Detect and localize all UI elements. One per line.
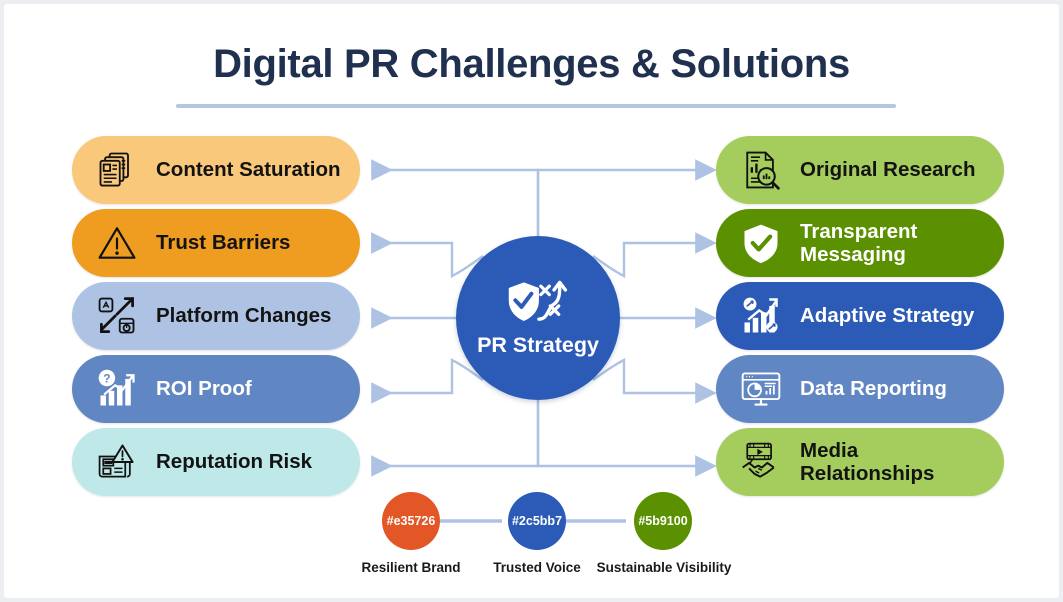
legend-hex: #2c5bb7 [512, 514, 562, 528]
challenge-label: Reputation Risk [156, 450, 312, 473]
dashboard-monitor-icon [734, 362, 788, 416]
shield-check-arrow-icon [505, 279, 571, 331]
legend-hex: #5b9100 [638, 514, 687, 528]
color-legend: #e35726 Resilient Brand #2c5bb7 Trusted … [354, 492, 754, 582]
media-handshake-icon [734, 435, 788, 489]
legend-caption-0: Resilient Brand [351, 560, 471, 575]
solution-pill-transparent-messaging[interactable]: Transparent Messaging [716, 209, 1004, 277]
legend-node-1[interactable]: #2c5bb7 [508, 492, 566, 550]
challenge-pill-trust-barriers[interactable]: Trust Barriers [72, 209, 360, 277]
slide-canvas: Digital PR Challenges & Solutions [4, 4, 1059, 598]
challenge-label: Content Saturation [156, 158, 341, 181]
svg-text:?: ? [103, 372, 110, 386]
legend-caption-2: Sustainable Visibility [594, 560, 734, 575]
solution-label: Original Research [800, 158, 975, 181]
solution-pill-data-reporting[interactable]: Data Reporting [716, 355, 1004, 423]
solution-label: Adaptive Strategy [800, 304, 974, 327]
news-warning-icon [90, 435, 144, 489]
challenge-label: ROI Proof [156, 377, 252, 400]
challenge-pill-platform-changes[interactable]: Platform Changes [72, 282, 360, 350]
challenge-pill-reputation-risk[interactable]: Reputation Risk [72, 428, 360, 496]
challenge-label: Platform Changes [156, 304, 331, 327]
shield-check-icon [734, 216, 788, 270]
legend-node-2[interactable]: #5b9100 [634, 492, 692, 550]
app-arrows-icon [90, 289, 144, 343]
report-magnifier-icon [734, 143, 788, 197]
solution-pill-adaptive-strategy[interactable]: Adaptive Strategy [716, 282, 1004, 350]
legend-node-0[interactable]: #e35726 [382, 492, 440, 550]
challenge-label: Trust Barriers [156, 231, 290, 254]
documents-stack-icon [90, 143, 144, 197]
warning-triangle-icon [90, 216, 144, 270]
solution-label: Media Relationships [800, 439, 934, 485]
solution-label: Data Reporting [800, 377, 947, 400]
hub-label: PR Strategy [477, 333, 599, 358]
solution-pill-original-research[interactable]: Original Research [716, 136, 1004, 204]
legend-hex: #e35726 [387, 514, 436, 528]
solution-label: Transparent Messaging [800, 220, 917, 266]
center-hub-pr-strategy[interactable]: PR Strategy [456, 236, 620, 400]
challenge-pill-content-saturation[interactable]: Content Saturation [72, 136, 360, 204]
growth-chart-icon [734, 289, 788, 343]
legend-caption-1: Trusted Voice [477, 560, 597, 575]
challenge-pill-roi-proof[interactable]: ? ROI Proof [72, 355, 360, 423]
question-chart-icon: ? [90, 362, 144, 416]
solution-pill-media-relationships[interactable]: Media Relationships [716, 428, 1004, 496]
